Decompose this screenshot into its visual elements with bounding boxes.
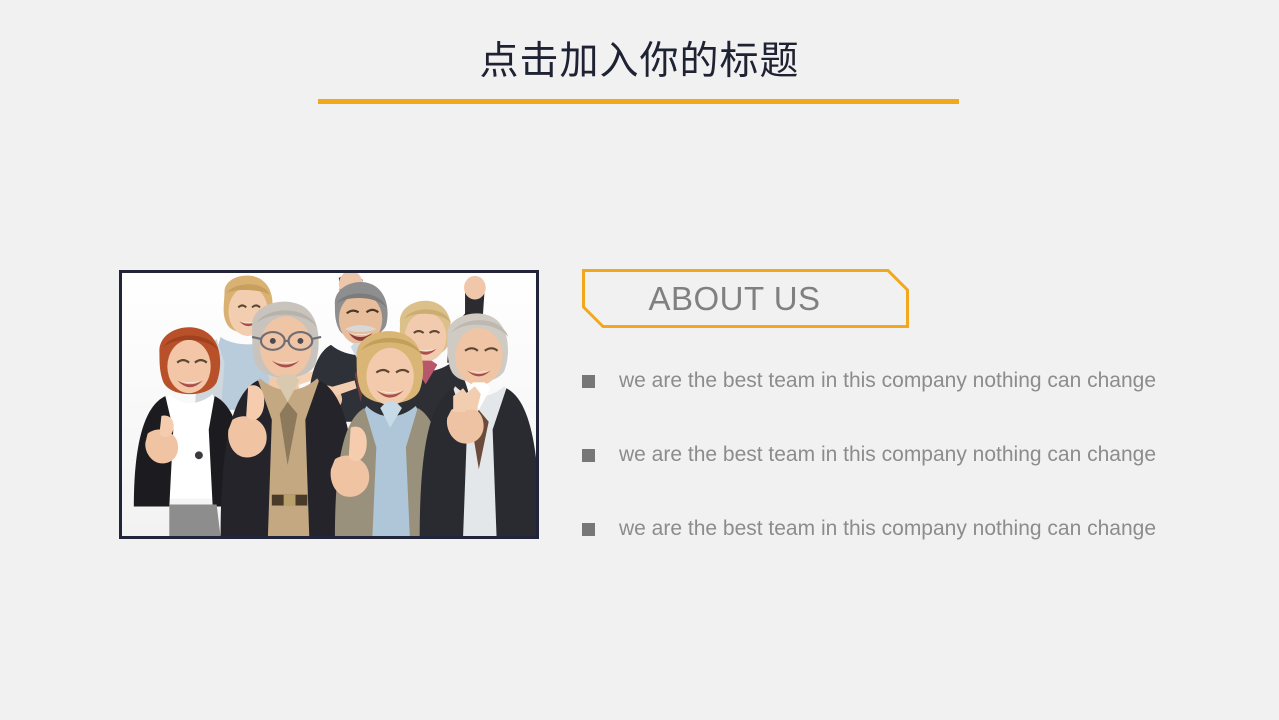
square-bullet-icon (582, 523, 595, 536)
team-photo-image (122, 273, 536, 536)
presentation-slide: 点击加入你的标题 (0, 0, 1279, 720)
about-us-banner: ABOUT US (582, 269, 909, 328)
list-item: we are the best team in this company not… (582, 362, 1222, 436)
about-bullet-list: we are the best team in this company not… (582, 362, 1222, 584)
title-underline-rule (318, 99, 959, 104)
list-item-text: we are the best team in this company not… (619, 510, 1156, 548)
list-item: we are the best team in this company not… (582, 436, 1222, 510)
about-us-label: ABOUT US (582, 269, 909, 328)
team-photo-frame (119, 270, 539, 539)
page-title: 点击加入你的标题 (0, 38, 1279, 86)
list-item-text: we are the best team in this company not… (619, 436, 1156, 474)
list-item: we are the best team in this company not… (582, 510, 1222, 584)
square-bullet-icon (582, 449, 595, 462)
list-item-text: we are the best team in this company not… (619, 362, 1156, 400)
square-bullet-icon (582, 375, 595, 388)
